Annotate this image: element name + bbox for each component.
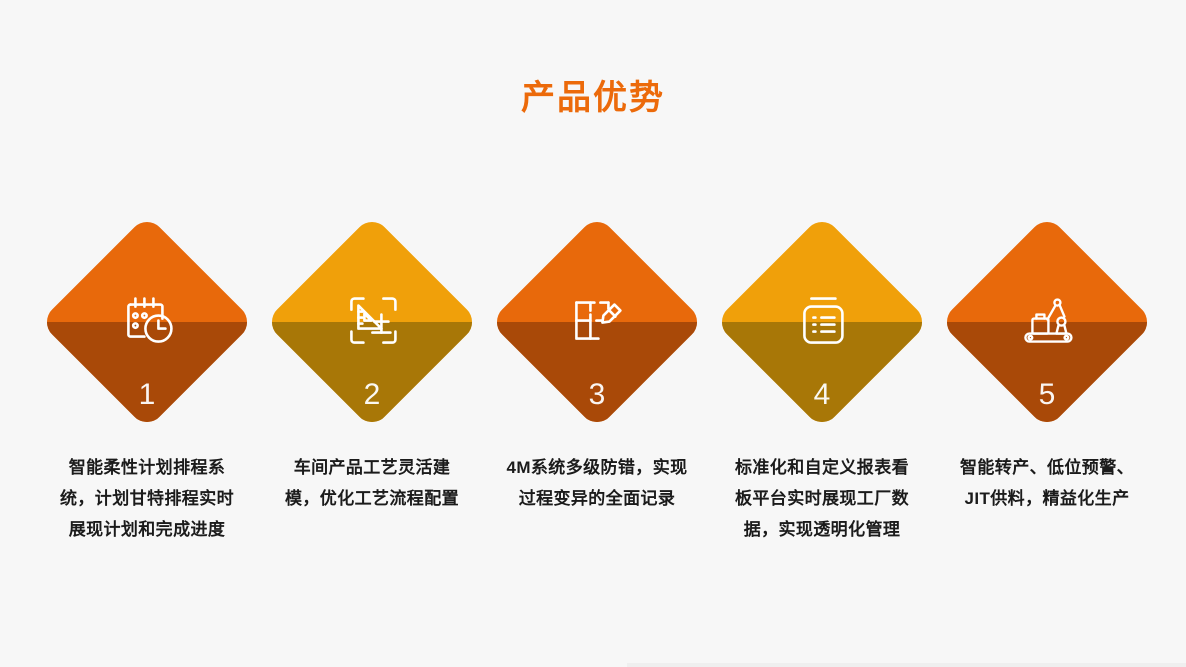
- slide-canvas: 产品优势: [0, 0, 1186, 667]
- advantage-card-3[interactable]: 3: [484, 202, 710, 442]
- card-caption-5: 智能转产、低位预警、JIT供料，精益化生产: [954, 452, 1140, 514]
- card-number-2: 2: [364, 380, 381, 410]
- card-number-4: 4: [814, 380, 831, 410]
- advantage-card-row: 1: [0, 202, 1186, 442]
- card-caption-1: 智能柔性计划排程系统，计划甘特排程实时展现计划和完成进度: [54, 452, 240, 545]
- advantage-card-4[interactable]: 4: [709, 202, 935, 442]
- advantage-card-5[interactable]: 5: [934, 202, 1160, 442]
- advantage-card-2[interactable]: 2: [259, 202, 485, 442]
- advantage-card-1[interactable]: 1: [34, 202, 260, 442]
- card-number-3: 3: [589, 380, 606, 410]
- caption-row: 智能柔性计划排程系统，计划甘特排程实时展现计划和完成进度 车间产品工艺灵活建模，…: [0, 452, 1186, 622]
- card-number-5: 5: [1039, 380, 1056, 410]
- card-number-1: 1: [139, 380, 156, 410]
- card-caption-2: 车间产品工艺灵活建模，优化工艺流程配置: [279, 452, 465, 514]
- bottom-divider: [627, 663, 1186, 667]
- page-title: 产品优势: [0, 78, 1186, 119]
- card-caption-3: 4M系统多级防错，实现过程变异的全面记录: [504, 452, 690, 514]
- card-caption-4: 标准化和自定义报表看板平台实时展现工厂数据，实现透明化管理: [729, 452, 915, 545]
